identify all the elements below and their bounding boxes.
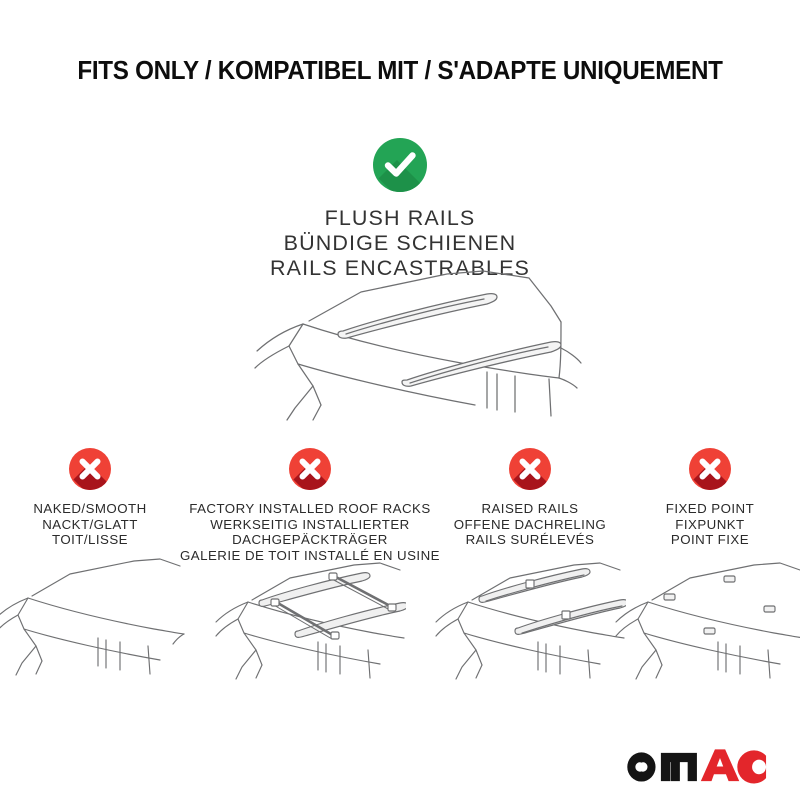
green-check-circle-icon (373, 138, 427, 192)
header: FITS ONLY / KOMPATIBEL MIT / S'ADAPTE UN… (0, 55, 800, 85)
incompatible-label-de-1: WERKSEITIG INSTALLIERTER (180, 517, 440, 533)
incompatible-item-fixed-point: FIXED POINT FIXPUNKT POINT FIXE (620, 448, 800, 688)
logo-letter-a (701, 749, 739, 781)
incompatible-label-en: FACTORY INSTALLED ROOF RACKS (180, 501, 440, 517)
car-roof-raised-rails-illustration (434, 556, 626, 684)
incompatible-label-de: OFFENE DACHRELING (454, 517, 606, 533)
compatible-section: FLUSH RAILS BÜNDIGE SCHIENEN RAILS ENCAS… (0, 138, 800, 281)
incompatible-label: NAKED/SMOOTH NACKT/GLATT TOIT/LISSE (33, 501, 146, 548)
incompatible-section: NAKED/SMOOTH NACKT/GLATT TOIT/LISSE (0, 448, 800, 688)
cross-mark-glyph (69, 448, 111, 490)
red-cross-circle-icon (69, 448, 111, 490)
incompatible-label-de-2: DACHGEPÄCKTRÄGER (180, 532, 440, 548)
compatible-label-en: FLUSH RAILS (0, 206, 800, 231)
compatible-label-de: BÜNDIGE SCHIENEN (0, 231, 800, 256)
red-cross-circle-icon (289, 448, 331, 490)
logo-letter-o (627, 752, 655, 781)
car-roof-flush-rails-illustration (225, 268, 585, 423)
page-title: FITS ONLY / KOMPATIBEL MIT / S'ADAPTE UN… (28, 55, 772, 85)
red-cross-circle-icon (689, 448, 731, 490)
cross-mark-glyph (289, 448, 331, 490)
check-mark-glyph (373, 138, 427, 192)
incompatible-label-en: FIXED POINT (666, 501, 754, 517)
logo-letter-c (737, 750, 766, 783)
incompatible-label-de: NACKT/GLATT (33, 517, 146, 533)
red-cross-circle-icon (509, 448, 551, 490)
incompatible-label-de: FIXPUNKT (666, 517, 754, 533)
car-roof-factory-roof-racks-illustration (214, 556, 406, 684)
car-roof-naked-smooth-illustration (0, 556, 186, 684)
logo-letter-m (661, 753, 697, 781)
incompatible-label-en: NAKED/SMOOTH (33, 501, 146, 517)
cross-mark-glyph (689, 448, 731, 490)
incompatible-label: FACTORY INSTALLED ROOF RACKS WERKSEITIG … (180, 501, 440, 563)
incompatible-label: RAISED RAILS OFFENE DACHRELING RAILS SUR… (454, 501, 606, 548)
omac-logo (620, 744, 768, 786)
incompatible-item-factory-roof-racks: FACTORY INSTALLED ROOF RACKS WERKSEITIG … (180, 448, 440, 688)
incompatible-item-raised-rails: RAISED RAILS OFFENE DACHRELING RAILS SUR… (440, 448, 620, 688)
cross-mark-glyph (509, 448, 551, 490)
incompatible-label: FIXED POINT FIXPUNKT POINT FIXE (666, 501, 754, 548)
incompatible-label-fr: POINT FIXE (666, 532, 754, 548)
incompatible-label-en: RAISED RAILS (454, 501, 606, 517)
omac-wordmark (620, 744, 768, 786)
incompatible-label-fr: TOIT/LISSE (33, 532, 146, 548)
incompatible-label-fr: RAILS SURÉLEVÉS (454, 532, 606, 548)
car-roof-fixed-point-illustration (614, 556, 800, 684)
incompatible-item-naked-smooth: NAKED/SMOOTH NACKT/GLATT TOIT/LISSE (0, 448, 180, 688)
